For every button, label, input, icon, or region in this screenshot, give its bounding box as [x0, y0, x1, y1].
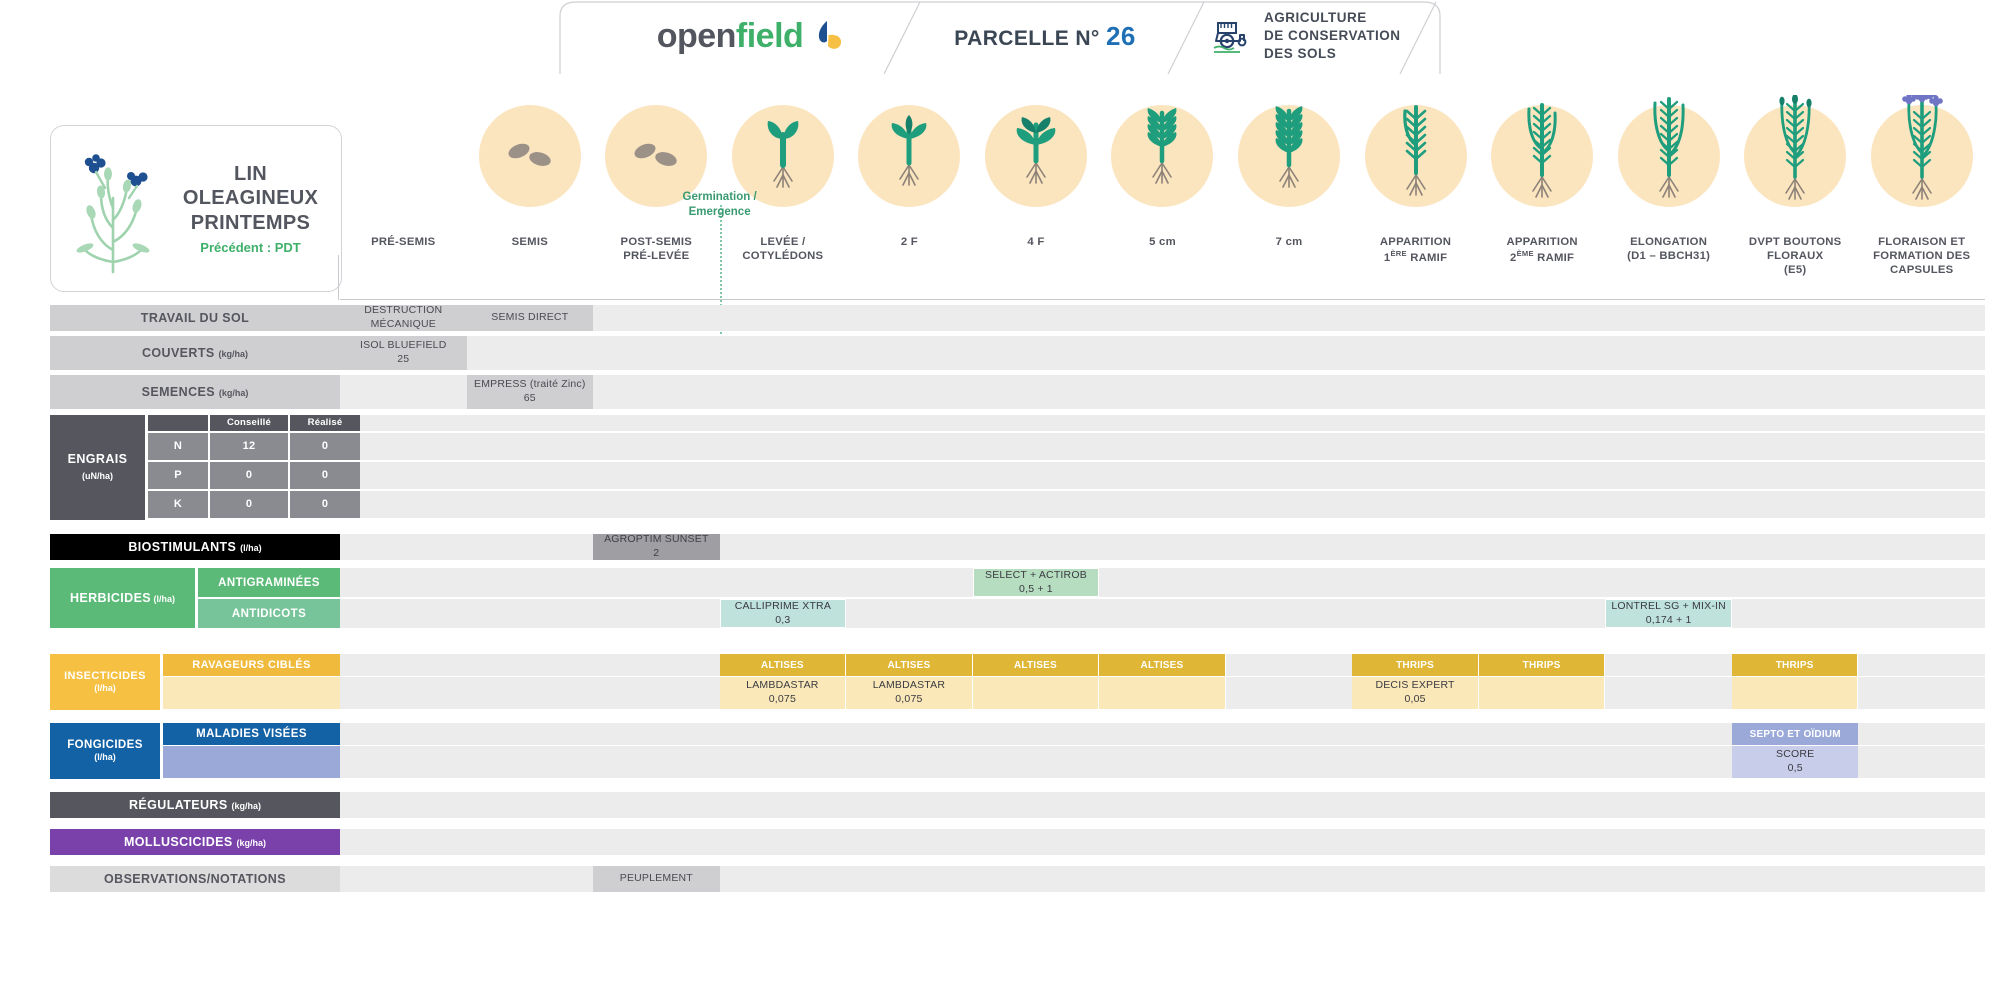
- couverts-track: [340, 336, 1985, 370]
- observations-track: [340, 866, 1985, 892]
- engrais-cell[interactable]: 0: [290, 433, 360, 460]
- stage-elongation[interactable]: ELONGATION(D1 – BBCH31): [1605, 95, 1732, 300]
- herbicide-antidicot-cell[interactable]: CALLIPRIME XTRA0,3: [720, 599, 847, 628]
- cell-value: 25: [397, 353, 409, 367]
- observations-label: OBSERVATIONS/NOTATIONS: [50, 866, 340, 892]
- crop-previous: Précédent : PDT: [166, 240, 335, 255]
- logo-text-field: field: [736, 17, 803, 55]
- acs-badge: AGRICULTURE DE CONSERVATION DES SOLS: [1200, 0, 1460, 72]
- observations-cell[interactable]: PEUPLEMENT: [593, 866, 720, 892]
- insecticide-product-cell[interactable]: DECIS EXPERT0,05: [1352, 677, 1479, 709]
- regulateurs-label: RÉGULATEURS (kg/ha): [50, 792, 340, 818]
- insecticide-product-cell[interactable]: [1099, 677, 1226, 709]
- cell-text: EMPRESS (traité Zinc): [474, 378, 586, 392]
- flax-plant-icon: [61, 144, 166, 274]
- stage-5cm[interactable]: 5 cm: [1099, 95, 1226, 300]
- insecticide-pest-cell[interactable]: ALTISES: [720, 654, 847, 676]
- stage-label-semis: SEMIS: [467, 235, 594, 249]
- tractor-soil-icon: [1210, 17, 1254, 55]
- herbicides-antidicots-label: ANTIDICOTS: [198, 599, 340, 628]
- stage-label-pre-semis: PRÉ-SEMIS: [340, 235, 467, 249]
- cell-text: ISOL BLUEFIELD: [360, 339, 446, 353]
- biostimulants-track: [340, 534, 1985, 560]
- stage-label-post-semis: POST-SEMISPRÉ-LEVÉE: [593, 235, 720, 263]
- stage-semis[interactable]: SEMIS: [467, 95, 594, 300]
- insecticide-pest-cell[interactable]: THRIPS: [1352, 654, 1479, 676]
- timeline-left-edge: [338, 255, 339, 300]
- crop-card: LIN OLEAGINEUX PRINTEMPS Précédent : PDT: [50, 125, 342, 292]
- insecticides-ravageurs-label: RAVAGEURS CIBLÉS: [163, 654, 340, 676]
- herbicides-track-2: [340, 599, 1985, 628]
- engrais-cell[interactable]: 0: [290, 491, 360, 518]
- engrais-cell[interactable]: 0: [210, 491, 288, 518]
- engrais-label: ENGRAIS(uN/ha): [50, 415, 145, 520]
- openfield-leaf-icon: [813, 19, 843, 53]
- fongicide-product-cell[interactable]: SCORE0,5: [1732, 746, 1859, 778]
- cell-text: AGROPTIM SUNSET: [604, 533, 709, 547]
- germination-marker-label: Germination /Emergence: [645, 190, 795, 220]
- logo-text-open: open: [657, 17, 736, 55]
- stage-label-floraison: FLORAISON ETFORMATION DESCAPSULES: [1858, 235, 1985, 277]
- stage-label-elongation: ELONGATION(D1 – BBCH31): [1605, 235, 1732, 263]
- herbicide-antigraminee-cell[interactable]: SELECT + ACTIROB0,5 + 1: [973, 568, 1100, 597]
- engrais-cell[interactable]: 0: [210, 462, 288, 489]
- cell-text: SEMIS DIRECT: [491, 311, 568, 325]
- herbicides-track-1: [340, 568, 1985, 597]
- openfield-logo[interactable]: openfield: [600, 0, 900, 72]
- couverts-cell[interactable]: ISOL BLUEFIELD 25: [340, 336, 467, 370]
- semences-cell[interactable]: EMPRESS (traité Zinc) 65: [467, 375, 594, 409]
- stage-floraison[interactable]: FLORAISON ETFORMATION DESCAPSULES: [1858, 95, 1985, 300]
- engrais-header: Réalisé: [290, 415, 360, 431]
- travail-du-sol-cell[interactable]: DESTRUCTIONMÉCANIQUE: [340, 305, 467, 331]
- stage-boutons[interactable]: DVPT BOUTONSFLORAUX(E5): [1732, 95, 1859, 300]
- insecticide-product-cell[interactable]: LAMBDASTAR0,075: [720, 677, 847, 709]
- insecticide-pest-cell[interactable]: ALTISES: [973, 654, 1100, 676]
- fongicides-label: FONGICIDES(l/ha): [50, 723, 160, 779]
- parcelle-label: PARCELLE N°: [954, 27, 1099, 50]
- stage-ramif1[interactable]: APPARITION1ÈRE RAMIF: [1352, 95, 1479, 300]
- cell-text: DESTRUCTIONMÉCANIQUE: [364, 304, 442, 331]
- engrais-track-stripe: [340, 433, 1985, 460]
- acs-line-1: AGRICULTURE: [1264, 9, 1401, 27]
- semences-label: SEMENCES (kg/ha): [50, 375, 340, 409]
- acs-line-2: DE CONSERVATION: [1264, 27, 1401, 45]
- crop-name-line-2: OLEAGINEUX: [166, 186, 335, 210]
- engrais-cell[interactable]: P: [148, 462, 208, 489]
- stage-label-2f: 2 F: [846, 235, 973, 249]
- cell-value: 65: [524, 392, 536, 406]
- insecticide-pest-cell[interactable]: THRIPS: [1732, 654, 1859, 676]
- insecticide-product-cell[interactable]: [1732, 677, 1859, 709]
- molluscicides-label: MOLLUSCICIDES (kg/ha): [50, 829, 340, 855]
- engrais-cell[interactable]: N: [148, 433, 208, 460]
- stage-pre-semis[interactable]: PRÉ-SEMIS: [340, 95, 467, 300]
- biostimulants-cell[interactable]: AGROPTIM SUNSET 2: [593, 534, 720, 560]
- fongicide-disease-cell[interactable]: SEPTO ET OÏDIUM: [1732, 723, 1859, 745]
- cell-value: 2: [653, 547, 659, 561]
- insecticide-pest-cell[interactable]: THRIPS: [1479, 654, 1606, 676]
- stage-2f[interactable]: 2 F: [846, 95, 973, 300]
- couverts-label: COUVERTS (kg/ha): [50, 336, 340, 370]
- engrais-header: Conseillé: [210, 415, 288, 431]
- molluscicides-track: [340, 829, 1985, 855]
- stage-ramif2[interactable]: APPARITION2ÈME RAMIF: [1479, 95, 1606, 300]
- cell-text: PEUPLEMENT: [620, 872, 693, 886]
- stage-label-boutons: DVPT BOUTONSFLORAUX(E5): [1732, 235, 1859, 277]
- herbicide-antidicot-cell[interactable]: LONTREL SG + MIX-IN0,174 + 1: [1605, 599, 1732, 628]
- regulateurs-track: [340, 792, 1985, 818]
- stage-label-4f: 4 F: [973, 235, 1100, 249]
- engrais-cell[interactable]: K: [148, 491, 208, 518]
- stage-label-ramif2: APPARITION2ÈME RAMIF: [1479, 235, 1606, 265]
- fongicides-maladies-label: MALADIES VISÉES: [163, 723, 340, 745]
- insecticide-product-cell[interactable]: [1479, 677, 1606, 709]
- insecticide-pest-cell[interactable]: ALTISES: [846, 654, 973, 676]
- travail-du-sol-label: TRAVAIL DU SOL: [50, 305, 340, 331]
- stage-4f[interactable]: 4 F: [973, 95, 1100, 300]
- herbicides-label: HERBICIDES (l/ha): [50, 568, 195, 628]
- insecticides-product-label: [163, 677, 340, 709]
- growth-stage-timeline: PRÉ-SEMIS SEMIS POST-SEMISPRÉ-LEVÉE LEVÉ…: [340, 95, 1985, 300]
- fongicides-product-label: [163, 746, 340, 778]
- stage-7cm[interactable]: 7 cm: [1226, 95, 1353, 300]
- stage-label-levee: LEVÉE /COTYLÉDONS: [720, 235, 847, 263]
- crop-name-line-3: PRINTEMPS: [166, 211, 335, 235]
- engrais-cell[interactable]: 0: [290, 462, 360, 489]
- insecticide-product-cell[interactable]: [973, 677, 1100, 709]
- page-header: openfield PARCELLE N° 26: [0, 0, 2000, 72]
- crop-name-line-1: LIN: [166, 162, 335, 186]
- travail-du-sol-cell[interactable]: SEMIS DIRECT: [467, 305, 594, 331]
- parcelle-title: PARCELLE N° 26: [920, 0, 1170, 72]
- engrais-cell[interactable]: 12: [210, 433, 288, 460]
- biostimulants-label: BIOSTIMULANTS (l/ha): [50, 534, 340, 560]
- stage-label-7cm: 7 cm: [1226, 235, 1353, 249]
- parcelle-number: 26: [1106, 21, 1136, 51]
- engrais-track-stripe: [340, 415, 1985, 431]
- acs-line-3: DES SOLS: [1264, 45, 1401, 63]
- insecticides-label: INSECTICIDES(l/ha): [50, 654, 160, 710]
- stage-label-5cm: 5 cm: [1099, 235, 1226, 249]
- engrais-track-stripe: [340, 462, 1985, 489]
- engrais-header: [148, 415, 208, 431]
- engrais-track-stripe: [340, 491, 1985, 518]
- timeline-baseline: [340, 299, 1985, 300]
- insecticide-pest-cell[interactable]: ALTISES: [1099, 654, 1226, 676]
- stage-label-ramif1: APPARITION1ÈRE RAMIF: [1352, 235, 1479, 265]
- herbicides-antigraminees-label: ANTIGRAMINÉES: [198, 568, 340, 597]
- insecticide-product-cell[interactable]: LAMBDASTAR0,075: [846, 677, 973, 709]
